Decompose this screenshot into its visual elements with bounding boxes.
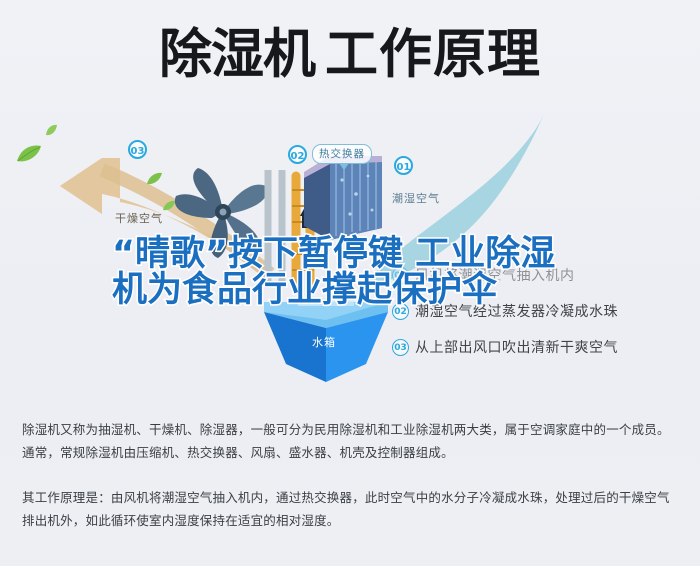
legend-text: 从上部出风口吹出清新干爽空气 <box>415 337 618 357</box>
body-paragraph-1: 除湿机又称为抽湿机、干燥机、除湿器，一般可分为民用除湿机和工业除湿机两大类，属于… <box>22 418 682 464</box>
legend-item-03: 03 从上部出风口吹出清新干爽空气 <box>392 334 692 360</box>
diagram-badge-01: 01 <box>394 156 413 175</box>
label-humid-air: 潮湿空气 <box>392 190 440 206</box>
diagram-badge-02: 02 <box>288 145 307 164</box>
overlay-headline: “晴歌”按下暂停键 工业除湿机为食品行业撑起保护伞 <box>112 236 582 308</box>
poster-root: 除湿机工作原理 干燥空气 <box>0 0 700 566</box>
label-dry-air: 干燥空气 <box>115 210 163 226</box>
leaf-icon <box>16 144 42 164</box>
diagram-badge-03: 03 <box>128 140 147 159</box>
legend-number: 03 <box>392 339 409 356</box>
title-part-2: 工作原理 <box>325 24 541 85</box>
leaf-icon <box>45 124 58 137</box>
page-title: 除湿机工作原理 <box>0 28 700 81</box>
callout-heat-exchanger: 热交换器 <box>312 144 372 164</box>
body-copy: 除湿机又称为抽湿机、干燥机、除湿器，一般可分为民用除湿机和工业除湿机两大类，属于… <box>22 418 682 542</box>
body-paragraph-2: 其工作原理是：由风机将潮湿空气抽入机内，通过热交换器，此时空气中的水分子冷凝成水… <box>22 486 682 532</box>
label-water-tank: 水箱 <box>312 334 336 350</box>
title-part-1: 除湿机 <box>159 24 315 85</box>
leaf-icon <box>146 172 163 186</box>
